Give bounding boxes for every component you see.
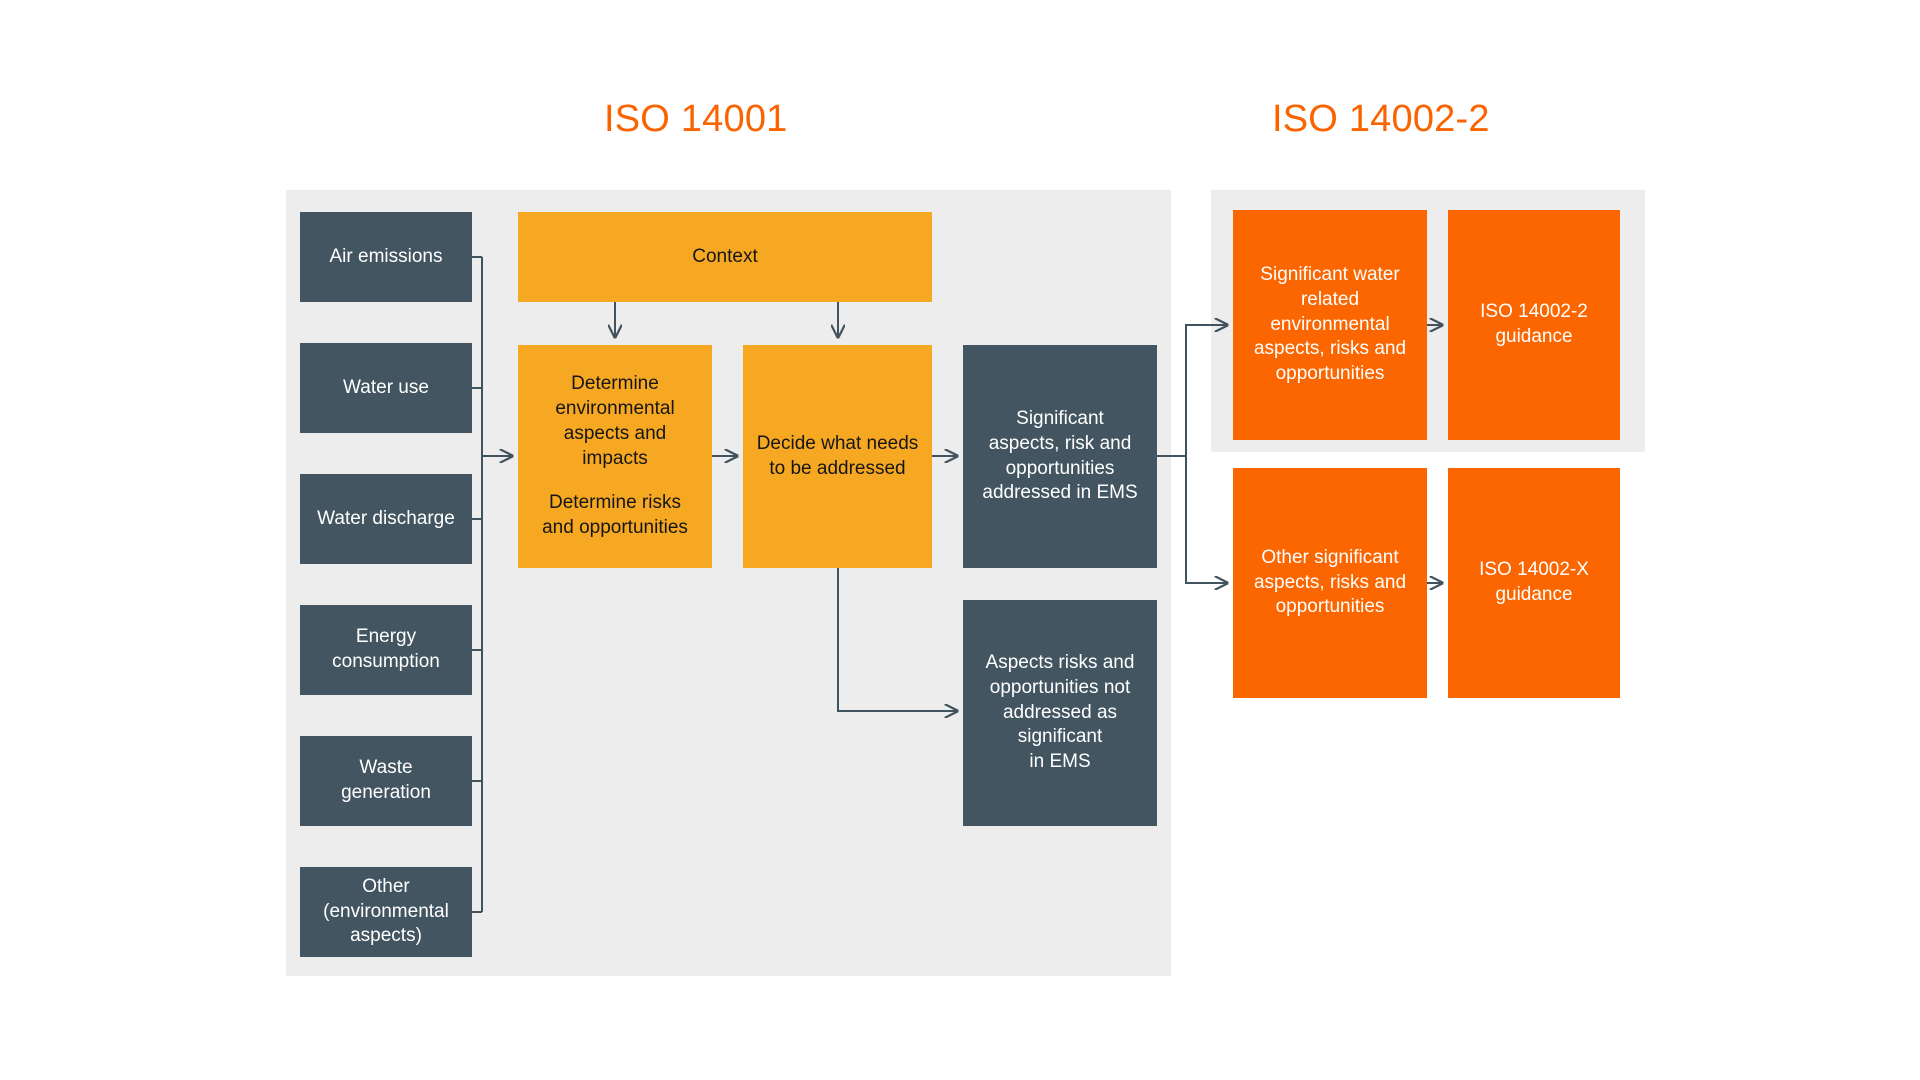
aspect-label: Waste generation bbox=[300, 756, 472, 805]
aspect-label: Other (environmental aspects) bbox=[300, 875, 472, 949]
guidance-document-box-iso14002-2[interactable]: ISO 14002-2 guidance bbox=[1448, 210, 1620, 440]
iso14001-panel bbox=[286, 190, 1171, 976]
aspect-label: Water discharge bbox=[300, 507, 472, 532]
aspect-box-water-discharge[interactable]: Water discharge bbox=[300, 474, 472, 564]
process-box-determine-aspects[interactable]: Determine environmental aspects and impa… bbox=[518, 345, 712, 568]
guidance-aspect-label: Other significant aspects, risks and opp… bbox=[1233, 546, 1427, 620]
aspect-box-other-environmental-aspects[interactable]: Other (environmental aspects) bbox=[300, 867, 472, 957]
guidance-document-box-iso14002-x[interactable]: ISO 14002-X guidance bbox=[1448, 468, 1620, 698]
guidance-aspect-box-significant-water[interactable]: Significant water related environmental … bbox=[1233, 210, 1427, 440]
diagram-canvas: ISO 14001 ISO 14002-2 Air emissions Wate… bbox=[0, 0, 1920, 1080]
aspect-box-waste-generation[interactable]: Waste generation bbox=[300, 736, 472, 826]
aspect-box-air-emissions[interactable]: Air emissions bbox=[300, 212, 472, 302]
outcome-box-not-addressed-as-significant[interactable]: Aspects risks and opportunities not addr… bbox=[963, 600, 1157, 826]
guidance-aspect-box-other-significant[interactable]: Other significant aspects, risks and opp… bbox=[1233, 468, 1427, 698]
aspect-box-energy-consumption[interactable]: Energy consumption bbox=[300, 605, 472, 695]
outcome-label: Aspects risks and opportunities not addr… bbox=[963, 651, 1157, 774]
process-box-decide-what-needs-addressing[interactable]: Decide what needs to be addressed bbox=[743, 345, 932, 568]
process-label: Decide what needs to be addressed bbox=[743, 432, 932, 481]
outcome-label: Significant aspects, risk and opportunit… bbox=[963, 407, 1157, 506]
page-title-iso14002: ISO 14002-2 bbox=[1272, 98, 1490, 141]
outcome-box-significant-addressed-in-ems[interactable]: Significant aspects, risk and opportunit… bbox=[963, 345, 1157, 568]
aspect-box-water-use[interactable]: Water use bbox=[300, 343, 472, 433]
process-label: Context bbox=[518, 245, 932, 270]
process-label-determine-risks: Determine risks and opportunities bbox=[512, 491, 718, 540]
process-box-context[interactable]: Context bbox=[518, 212, 932, 302]
aspect-label: Air emissions bbox=[300, 245, 472, 270]
aspect-label: Water use bbox=[300, 376, 472, 401]
process-label-determine-aspects: Determine environmental aspects and impa… bbox=[512, 372, 718, 471]
aspect-label: Energy consumption bbox=[300, 625, 472, 674]
page-title-iso14001: ISO 14001 bbox=[604, 98, 788, 141]
guidance-document-label: ISO 14002-2 guidance bbox=[1448, 300, 1620, 349]
guidance-document-label: ISO 14002-X guidance bbox=[1448, 558, 1620, 607]
guidance-aspect-label: Significant water related environmental … bbox=[1233, 263, 1427, 386]
